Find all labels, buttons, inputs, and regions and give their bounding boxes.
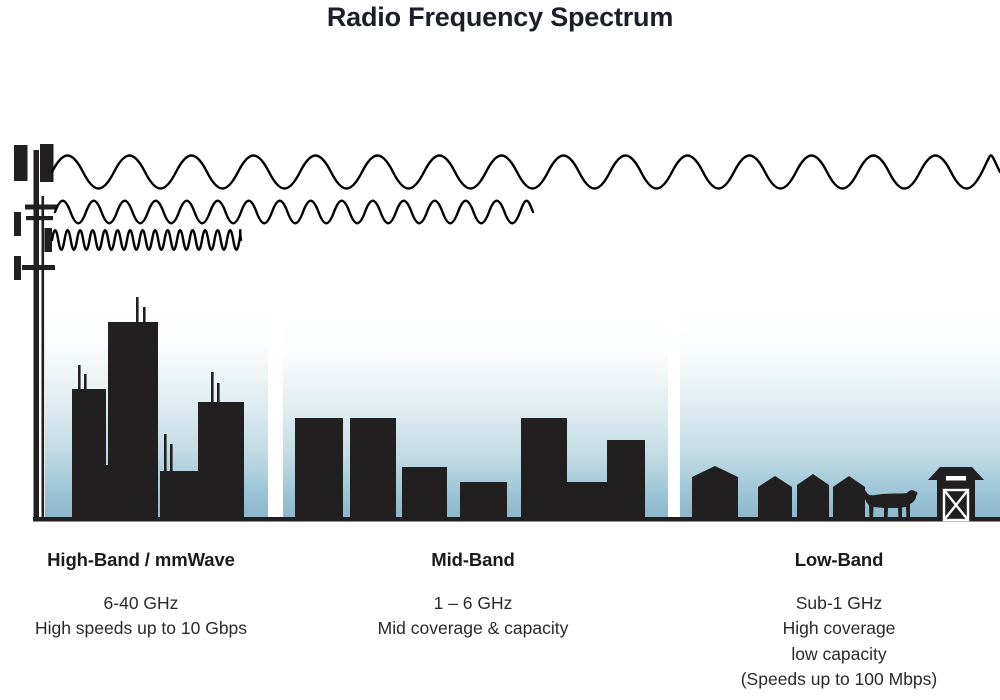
building-7 (607, 440, 645, 520)
low-frequency-wave (52, 156, 1000, 189)
panel-antenna-1 (14, 145, 28, 181)
desc-line: High coverage (699, 616, 979, 641)
column-label-mid-band: Mid-Band (333, 549, 613, 571)
column-description-mid-band: 1 – 6 GHz Mid coverage & capacity (333, 591, 613, 642)
panel-antenna-2 (40, 144, 54, 182)
radio-waves (52, 156, 1000, 250)
building-1 (295, 418, 343, 520)
column-description-high-band: 6-40 GHz High speeds up to 10 Gbps (0, 591, 282, 642)
infographic-canvas: Radio Frequency Spectrum (0, 0, 1000, 700)
building-4 (460, 482, 507, 520)
tower-mast-secondary (42, 196, 45, 520)
desc-line: low capacity (699, 642, 979, 667)
desc-line: Sub-1 GHz (699, 591, 979, 616)
panel-antenna-3 (14, 212, 21, 236)
tower-crossbar-upper (26, 216, 53, 220)
skyscraper-1 (72, 389, 106, 520)
skyscraper-4-spire-1 (164, 434, 167, 477)
building-6 (567, 482, 607, 520)
desc-line: (Speeds up to 100 Mbps) (699, 667, 979, 692)
house-1 (692, 466, 738, 520)
skyscraper-5 (198, 402, 244, 520)
barn-wall (937, 480, 975, 520)
tower-crossbar-top (25, 205, 57, 210)
desc-line: Mid coverage & capacity (333, 616, 613, 641)
panel-antenna-5 (14, 256, 21, 280)
tower-crossbar-lower (22, 265, 55, 270)
desc-line: 6-40 GHz (0, 591, 282, 616)
mid-frequency-wave (55, 201, 533, 224)
column-description-low-band: Sub-1 GHz High coverage low capacity (Sp… (699, 591, 979, 693)
skyscraper-4 (160, 471, 198, 520)
skyscraper-3 (108, 322, 158, 520)
column-label-low-band: Low-Band (699, 549, 979, 571)
building-2 (350, 418, 396, 520)
high-frequency-wave (52, 230, 241, 250)
building-3 (402, 467, 447, 520)
desc-line: 1 – 6 GHz (333, 591, 613, 616)
column-label-high-band: High-Band / mmWave (0, 549, 282, 571)
building-5 (521, 418, 567, 520)
barn-hayloft-window (946, 476, 966, 481)
desc-line: High speeds up to 10 Gbps (0, 616, 282, 641)
